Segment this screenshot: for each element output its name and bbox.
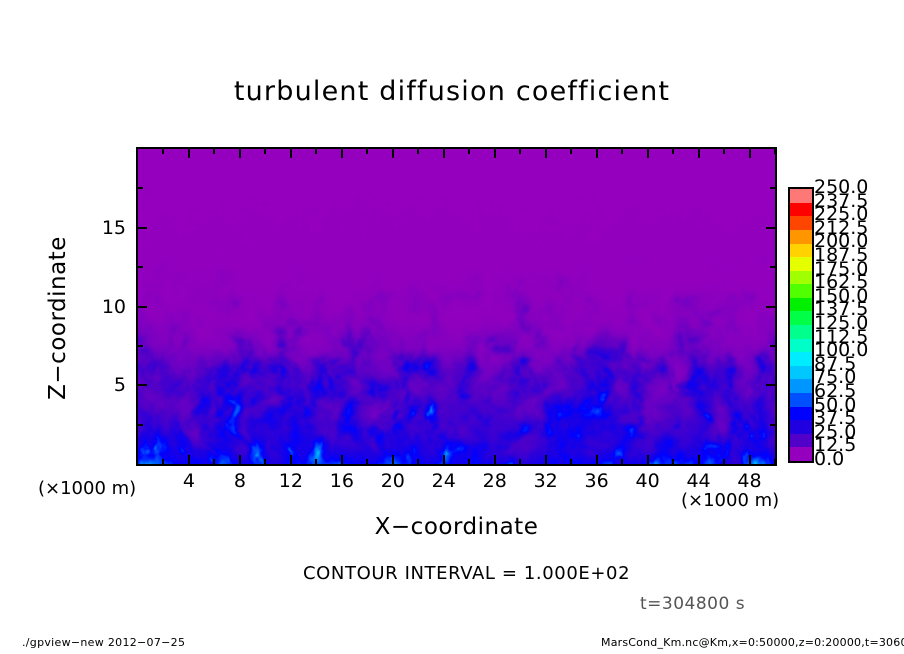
- axis-tick: [162, 149, 164, 154]
- y-tick-label: 15: [82, 217, 126, 239]
- colorbar-band: [790, 379, 812, 393]
- axis-tick: [698, 149, 700, 158]
- axis-tick: [213, 459, 215, 464]
- axis-tick: [723, 149, 725, 154]
- x-tick-label: 20: [367, 470, 419, 492]
- axis-tick: [366, 149, 368, 154]
- axis-tick: [766, 227, 775, 229]
- colorbar-band: [790, 447, 812, 461]
- x-tick-label: 24: [418, 470, 470, 492]
- axis-tick: [341, 149, 343, 158]
- axis-tick: [570, 149, 572, 154]
- colorbar-band: [790, 271, 812, 285]
- colorbar: [788, 187, 814, 463]
- axis-tick: [417, 459, 419, 464]
- axis-tick: [766, 384, 775, 386]
- axis-tick: [596, 149, 598, 158]
- colorbar-band: [790, 366, 812, 380]
- axis-tick: [770, 424, 775, 426]
- axis-tick: [770, 187, 775, 189]
- axis-tick: [443, 149, 445, 158]
- contour-interval-label: CONTOUR INTERVAL = 1.000E+02: [303, 563, 630, 584]
- axis-tick: [239, 455, 241, 464]
- axis-tick: [290, 149, 292, 158]
- axis-tick: [519, 149, 521, 154]
- page-title: turbulent diffusion coefficient: [0, 76, 904, 107]
- axis-tick: [770, 345, 775, 347]
- axis-tick: [138, 227, 147, 229]
- axis-tick: [774, 459, 776, 464]
- colorbar-band: [790, 203, 812, 217]
- axis-tick: [519, 459, 521, 464]
- colorbar-band: [790, 244, 812, 258]
- colorbar-band: [790, 407, 812, 421]
- y-axis-label: Z−coordinate: [45, 218, 71, 418]
- axis-tick: [264, 149, 266, 154]
- axis-tick: [188, 149, 190, 158]
- footer-command: ./gpview−new 2012−07−25: [22, 636, 185, 649]
- axis-tick: [138, 384, 147, 386]
- axis-tick: [723, 459, 725, 464]
- axis-tick: [315, 149, 317, 154]
- axis-tick: [138, 266, 143, 268]
- axis-tick: [621, 149, 623, 154]
- axis-tick: [672, 459, 674, 464]
- colorbar-band: [790, 352, 812, 366]
- axis-tick: [138, 424, 143, 426]
- axis-tick: [647, 455, 649, 464]
- x-tick-label: 36: [571, 470, 623, 492]
- axis-tick: [341, 455, 343, 464]
- x-unit-left: (×1000 m): [38, 478, 136, 499]
- colorbar-band: [790, 230, 812, 244]
- colorbar-band: [790, 420, 812, 434]
- axis-tick: [443, 455, 445, 464]
- x-tick-label: 4: [163, 470, 215, 492]
- x-tick-label: 40: [622, 470, 674, 492]
- axis-tick: [698, 455, 700, 464]
- colorbar-tick-label: 0.0: [814, 450, 844, 469]
- axis-tick: [468, 459, 470, 464]
- x-axis-label: X−coordinate: [136, 514, 777, 540]
- x-unit-right: (×1000 m): [681, 490, 779, 511]
- axis-tick: [596, 455, 598, 464]
- axis-tick: [264, 459, 266, 464]
- axis-tick: [621, 459, 623, 464]
- colorbar-band: [790, 284, 812, 298]
- colorbar-band: [790, 298, 812, 312]
- x-tick-label: 8: [214, 470, 266, 492]
- axis-tick: [494, 455, 496, 464]
- colorbar-band: [790, 257, 812, 271]
- axis-tick: [545, 149, 547, 158]
- axis-tick: [774, 149, 776, 154]
- x-tick-label: 12: [265, 470, 317, 492]
- x-tick-label: 48: [724, 470, 776, 492]
- axis-tick: [138, 187, 143, 189]
- axis-tick: [749, 455, 751, 464]
- axis-tick: [468, 149, 470, 154]
- y-tick-label: 5: [82, 374, 126, 396]
- axis-tick: [392, 149, 394, 158]
- axis-tick: [188, 455, 190, 464]
- axis-tick: [239, 149, 241, 158]
- x-tick-label: 44: [673, 470, 725, 492]
- contour-plot-area: [136, 147, 777, 466]
- axis-tick: [138, 345, 143, 347]
- axis-tick: [570, 459, 572, 464]
- axis-tick: [138, 306, 147, 308]
- axis-tick: [162, 459, 164, 464]
- turbulence-field-image: [138, 149, 775, 464]
- colorbar-band: [790, 339, 812, 353]
- axis-tick: [647, 149, 649, 158]
- time-label: t=304800 s: [640, 594, 745, 614]
- y-tick-label: 10: [82, 296, 126, 318]
- x-tick-label: 16: [316, 470, 368, 492]
- footer-source: MarsCond_Km.nc@Km,x=0:50000,z=0:20000,t=…: [601, 636, 904, 649]
- axis-tick: [672, 149, 674, 154]
- axis-tick: [392, 455, 394, 464]
- axis-tick: [770, 266, 775, 268]
- colorbar-band: [790, 189, 812, 203]
- colorbar-band: [790, 311, 812, 325]
- axis-tick: [366, 459, 368, 464]
- colorbar-band: [790, 434, 812, 448]
- axis-tick: [315, 459, 317, 464]
- axis-tick: [290, 455, 292, 464]
- axis-tick: [749, 149, 751, 158]
- axis-tick: [417, 149, 419, 154]
- axis-tick: [766, 306, 775, 308]
- x-tick-label: 32: [520, 470, 572, 492]
- axis-tick: [494, 149, 496, 158]
- colorbar-band: [790, 325, 812, 339]
- colorbar-band: [790, 393, 812, 407]
- axis-tick: [545, 455, 547, 464]
- axis-tick: [213, 149, 215, 154]
- x-tick-label: 28: [469, 470, 521, 492]
- colorbar-band: [790, 216, 812, 230]
